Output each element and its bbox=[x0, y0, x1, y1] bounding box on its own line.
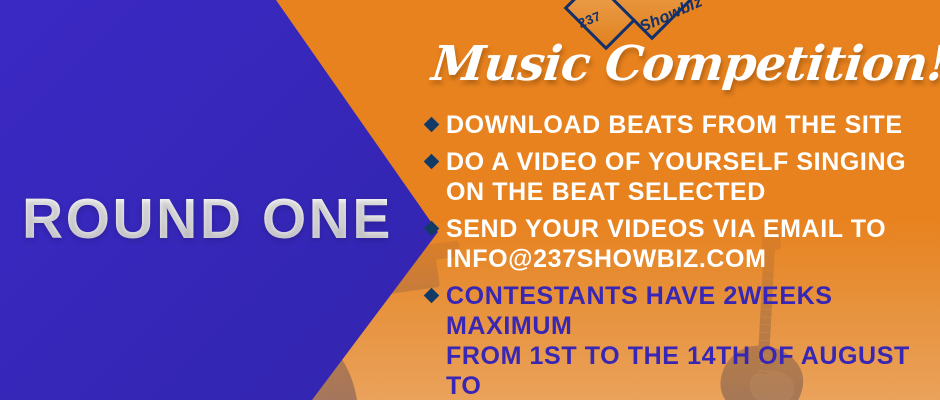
headline-title: Music Competition! bbox=[429, 36, 940, 92]
bullet-line: ON THE BEAT SELECTED bbox=[446, 178, 766, 206]
bullet-item-do-a-video: DO A VIDEO OF YOURSELF SINGING ON THE BE… bbox=[426, 147, 936, 207]
diamond-bullet-icon bbox=[424, 154, 440, 170]
contact-email: INFO@237SHOWBIZ.COM bbox=[446, 245, 767, 273]
diamond-bullet-icon bbox=[424, 221, 440, 237]
bullet-line: SEND YOUR VIDEOS VIA EMAIL TO bbox=[446, 215, 886, 243]
bullet-item-download-beats: DOWNLOAD BEATS FROM THE SITE bbox=[426, 110, 936, 140]
bullet-line: FROM 1ST TO THE 14TH OF AUGUST TO bbox=[446, 342, 910, 400]
bullet-text: CONTESTANTS HAVE 2WEEKS MAXIMUM FROM 1ST… bbox=[446, 281, 936, 400]
bullet-list: DOWNLOAD BEATS FROM THE SITE DO A VIDEO … bbox=[426, 110, 936, 400]
bullet-text: SEND YOUR VIDEOS VIA EMAIL TO INFO@237SH… bbox=[446, 214, 886, 274]
diamond-bullet-icon bbox=[424, 117, 440, 133]
round-label: ROUND ONE bbox=[22, 186, 393, 252]
diamond-bullet-icon bbox=[424, 288, 440, 304]
bullet-line: CONTESTANTS HAVE 2WEEKS MAXIMUM bbox=[446, 282, 833, 340]
promo-poster: ROUND ONE 237 Showbiz Music Competition!… bbox=[0, 0, 940, 400]
bullet-item-deadline: CONTESTANTS HAVE 2WEEKS MAXIMUM FROM 1ST… bbox=[426, 281, 936, 400]
bullet-item-send-videos: SEND YOUR VIDEOS VIA EMAIL TO INFO@237SH… bbox=[426, 214, 936, 274]
bullet-text: DOWNLOAD BEATS FROM THE SITE bbox=[446, 110, 903, 140]
bullet-text: DO A VIDEO OF YOURSELF SINGING ON THE BE… bbox=[446, 147, 906, 207]
bullet-line: DO A VIDEO OF YOURSELF SINGING bbox=[446, 148, 906, 176]
